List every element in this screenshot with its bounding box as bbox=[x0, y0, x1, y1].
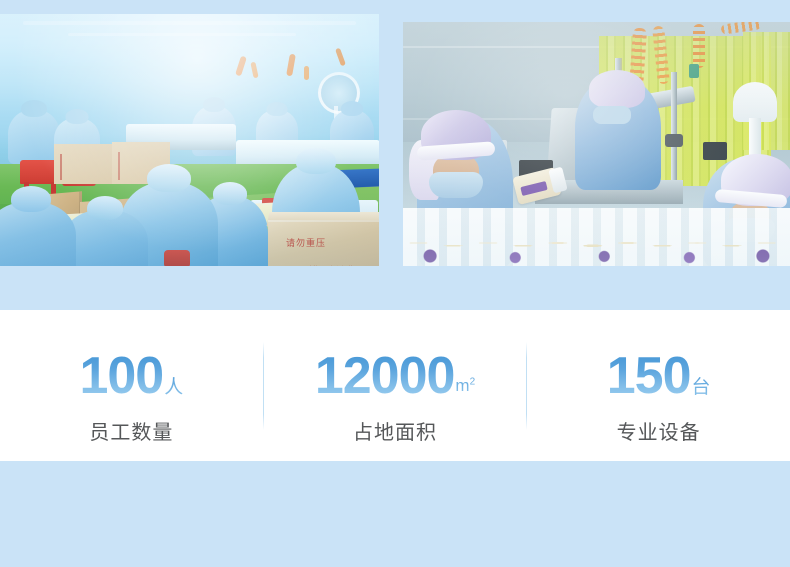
stat-item-employees: 100人 员工数量 bbox=[0, 326, 263, 445]
stat-number-equipment: 150 bbox=[607, 347, 691, 405]
bottom-blue-band bbox=[0, 461, 790, 567]
stat-label-equipment: 专业设备 bbox=[527, 416, 790, 445]
factory-photo-right[interactable] bbox=[403, 22, 790, 266]
stat-number-employees: 100 bbox=[79, 347, 163, 405]
stat-label-area: 占地面积 bbox=[264, 416, 527, 445]
stat-value-equipment: 150台 bbox=[527, 350, 790, 402]
stat-number-area: 12000 bbox=[315, 347, 455, 405]
stat-unit-employees: 人 bbox=[164, 377, 183, 398]
photo-right-haze-overlay bbox=[403, 22, 790, 266]
stat-item-area: 12000m2 占地面积 bbox=[264, 326, 527, 445]
stat-unit-area: m2 bbox=[455, 376, 475, 395]
stat-value-area: 12000m2 bbox=[264, 350, 527, 402]
photo-left-haze-overlay bbox=[0, 14, 379, 266]
factory-intro-page: 请勿重压 易碎物品 小心轻放 bbox=[0, 0, 790, 567]
photo-band: 请勿重压 易碎物品 小心轻放 bbox=[0, 0, 790, 310]
company-stats-section: 100人 员工数量 12000m2 占地面积 150台 专业设备 bbox=[0, 310, 790, 461]
stat-unit-area-exponent: 2 bbox=[470, 376, 476, 387]
stat-label-employees: 员工数量 bbox=[0, 416, 263, 445]
stat-unit-equipment: 台 bbox=[692, 377, 711, 398]
company-stats-row: 100人 员工数量 12000m2 占地面积 150台 专业设备 bbox=[0, 326, 790, 445]
stat-value-employees: 100人 bbox=[0, 350, 263, 402]
stat-item-equipment: 150台 专业设备 bbox=[527, 326, 790, 445]
factory-photo-left[interactable]: 请勿重压 易碎物品 小心轻放 bbox=[0, 14, 379, 266]
stat-unit-area-base: m bbox=[455, 376, 469, 395]
